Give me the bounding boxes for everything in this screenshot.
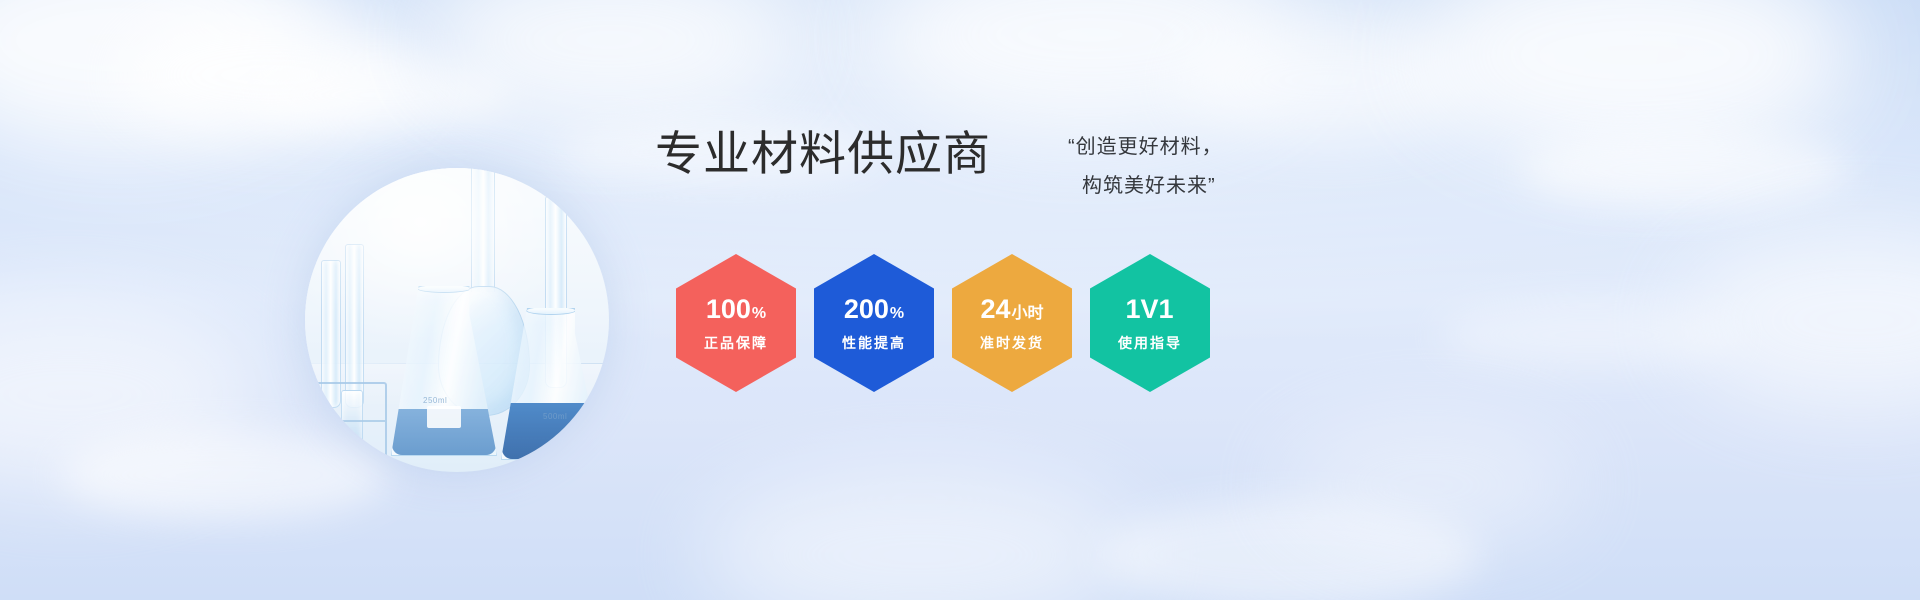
badge-unit: % bbox=[752, 306, 766, 322]
badge-number: 24 bbox=[980, 296, 1010, 323]
badge-caption: 准时发货 bbox=[980, 336, 1044, 350]
slogan-line-1: “创造更好材料， bbox=[1068, 128, 1258, 167]
badge-number: 200 bbox=[844, 296, 889, 323]
badge-value: 100 % bbox=[706, 296, 766, 323]
tube-rack bbox=[311, 382, 387, 458]
volumetric-flask-neck bbox=[471, 168, 495, 292]
badge-value: 1V1 bbox=[1125, 296, 1174, 323]
flask-volume-text: 500ml bbox=[543, 412, 567, 421]
badge-value: 200 % bbox=[844, 296, 904, 323]
flask-graduation-label: 250ml bbox=[305, 168, 342, 186]
graduation-unit: ml bbox=[333, 170, 341, 177]
badge-number: 100 bbox=[706, 296, 751, 323]
badge-number: 1V1 bbox=[1125, 296, 1173, 323]
badge-guidance[interactable]: 1V1 使用指导 bbox=[1090, 254, 1210, 392]
badge-shipping[interactable]: 24 小时 准时发货 bbox=[952, 254, 1072, 392]
badge-value: 24 小时 bbox=[980, 296, 1043, 323]
badge-caption: 性能提高 bbox=[842, 336, 906, 350]
badge-caption: 正品保障 bbox=[704, 336, 768, 350]
badge-performance[interactable]: 200 % 性能提高 bbox=[814, 254, 934, 392]
page-title: 专业材料供应商 bbox=[655, 128, 991, 180]
graduation-value: 250 bbox=[305, 168, 333, 185]
laboratory-glassware-photo: 250ml 250ml 500ml bbox=[305, 168, 609, 472]
slogan-line-2: 构筑美好未来” bbox=[1068, 167, 1258, 206]
flask-label bbox=[427, 406, 461, 428]
badge-authentic[interactable]: 100 % 正品保障 bbox=[676, 254, 796, 392]
badge-caption: 使用指导 bbox=[1118, 336, 1182, 350]
badge-unit: 小时 bbox=[1012, 306, 1044, 322]
badge-unit: % bbox=[890, 306, 904, 322]
flask-volume-text: 250ml bbox=[423, 396, 447, 405]
slogan-quote: “创造更好材料， 构筑美好未来” bbox=[1068, 128, 1258, 206]
feature-badge-row: 100 % 正品保障 200 % 性能提高 24 小时 准时发货 1V1 bbox=[676, 254, 1210, 392]
hero-banner: 250ml 250ml 500ml 专业材料供应商 “创造更好材料， 构筑美好未… bbox=[0, 0, 1920, 600]
